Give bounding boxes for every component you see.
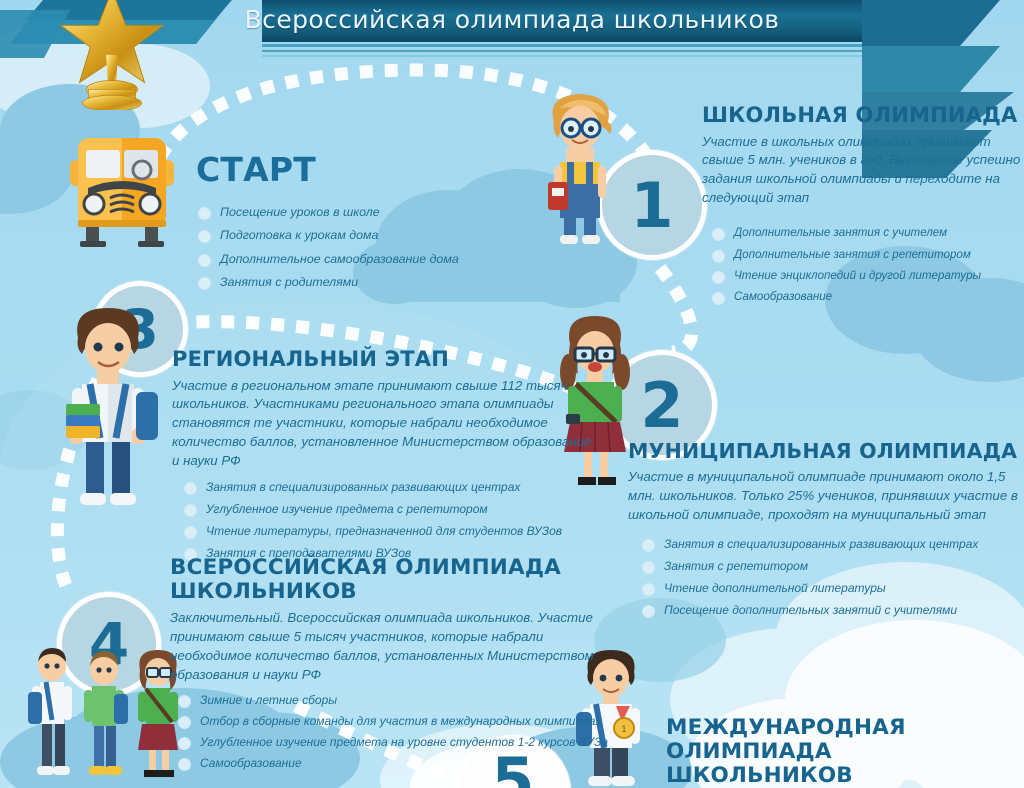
stage-list: Дополнительные занятия с учителем Дополн…: [702, 226, 1022, 305]
list-item: Подготовка к урокам дома: [196, 228, 556, 244]
list-item: Углубленное изучение предмета с репетито…: [182, 502, 592, 517]
stage-description: Заключительный. Всероссийская олимпиада …: [170, 609, 610, 685]
start-title: СТАРТ: [196, 152, 556, 189]
character-boy-with-backpack: [42, 300, 172, 515]
stage-list: Зимние и летние сборы Отбор в сборные ко…: [170, 693, 610, 771]
list-item: Дополнительные занятия с учителем: [710, 226, 1022, 240]
list-item: Зимние и летние сборы: [176, 693, 610, 708]
list-item: Отбор в сборные команды для участия в ме…: [176, 714, 610, 729]
list-item: Дополнительное самообразование дома: [196, 252, 556, 268]
list-item: Чтение энциклопедий и другой литературы: [710, 269, 1022, 283]
stage-description: Участие в региональном этапе принимают с…: [172, 377, 592, 471]
stage-title: МУНИЦИПАЛЬНАЯ ОЛИМПИАДА: [628, 440, 1024, 463]
list-item: Углубленное изучение предмета на уровне …: [176, 735, 610, 750]
stage-block-4: ВСЕРОССИЙСКАЯ ОЛИМПИАДА ШКОЛЬНИКОВ Заклю…: [170, 556, 610, 777]
school-bus-icon: [52, 128, 192, 250]
list-item: Занятия с репетитором: [640, 559, 1024, 574]
stage-block-3: РЕГИОНАЛЬНЫЙ ЭТАП Участие в региональном…: [172, 348, 592, 568]
start-list: Посещение уроков в школе Подготовка к ур…: [196, 205, 556, 291]
svg-text:1: 1: [621, 725, 627, 735]
list-item: Чтение дополнительной литературы: [640, 581, 1024, 596]
stage-description: Участие в муниципальной олимпиаде приним…: [628, 468, 1024, 525]
list-item: Занятия в специализированных развивающих…: [640, 537, 1024, 552]
list-item: Посещение уроков в школе: [196, 205, 556, 221]
stage-block-2: МУНИЦИПАЛЬНАЯ ОЛИМПИАДА Участие в муници…: [628, 440, 1024, 625]
list-item: Занятия в специализированных развивающих…: [182, 480, 592, 495]
list-item: Дополнительные занятия с репетитором: [710, 248, 1022, 262]
stage-block-5: МЕЖДУНАРОДНАЯ ОЛИМПИАДА ШКОЛЬНИКОВ Тольк…: [666, 716, 1016, 788]
stage-title: ШКОЛЬНАЯ ОЛИМПИАДА: [702, 104, 1022, 128]
stage-title: ВСЕРОССИЙСКАЯ ОЛИМПИАДА ШКОЛЬНИКОВ: [170, 556, 610, 604]
stage-title: МЕЖДУНАРОДНАЯ ОЛИМПИАДА ШКОЛЬНИКОВ: [666, 716, 1016, 788]
list-item: Чтение литературы, предназначенной для с…: [182, 524, 592, 539]
list-item: Посещение дополнительных занятий с учите…: [640, 603, 1024, 618]
stage-title: РЕГИОНАЛЬНЫЙ ЭТАП: [172, 348, 592, 372]
list-item: Самообразование: [176, 756, 610, 771]
infographic-canvas: Всероссийская олимпиада школьников: [0, 0, 1024, 788]
list-item: Занятия с родителями: [196, 275, 556, 291]
stage-list: Занятия в специализированных развивающих…: [628, 537, 1024, 618]
star-trophy-icon: [52, 0, 172, 110]
start-block: СТАРТ Посещение уроков в школе Подготовк…: [196, 152, 556, 299]
list-item: Самообразование: [710, 290, 1022, 304]
stage-list: Занятия в специализированных развивающих…: [172, 480, 592, 561]
stage-description: Участие в школьных олимпиадах принимают …: [702, 133, 1022, 209]
stage-block-1: ШКОЛЬНАЯ ОЛИМПИАДА Участие в школьных ол…: [702, 104, 1022, 312]
